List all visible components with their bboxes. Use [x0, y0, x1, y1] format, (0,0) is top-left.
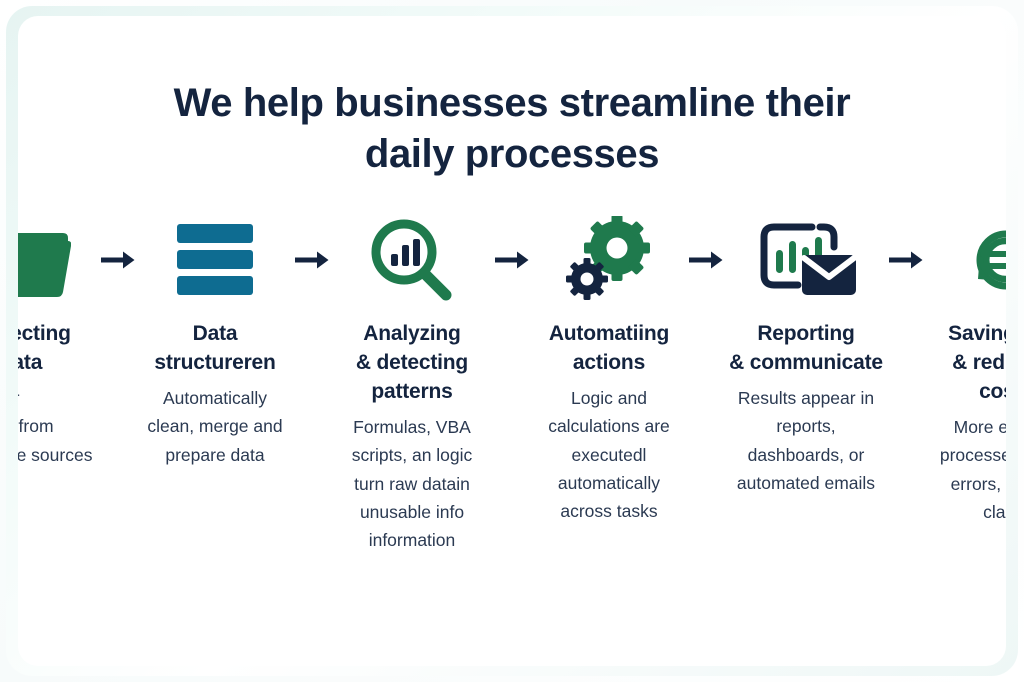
step-heading: Automatiing actions — [549, 320, 669, 378]
icon-slot — [729, 212, 883, 308]
arrow-right-icon — [101, 250, 135, 270]
page-title: We help businesses streamline their dail… — [18, 78, 1006, 180]
step-heading: Saving time & reducing costs — [948, 320, 1006, 407]
step-heading: Data structureren — [154, 320, 275, 378]
step-body: Logic and calculations are executedl aut… — [535, 384, 683, 526]
step-heading-line-3: costs — [979, 380, 1006, 403]
step-heading-line-1: Saving time — [948, 322, 1006, 345]
step-body: ✓ Gather courcefrom multiple sources — [18, 384, 100, 469]
flow-arrow-2 — [289, 212, 335, 308]
step-data-structureren: Data structureren Automatically clean, m… — [141, 212, 289, 469]
step-body: Formulas, VBA scripts, an logic turn raw… — [335, 413, 489, 555]
dashboard-envelope-icon — [754, 217, 858, 303]
page-title-line-1: We help businesses streamline their — [108, 78, 916, 129]
icon-slot — [18, 212, 95, 308]
slide-canvas: We help businesses streamline their dail… — [0, 0, 1024, 682]
icon-slot — [535, 212, 683, 308]
arrow-right-icon — [495, 250, 529, 270]
step-heading: Analyzing & detecting patterns — [356, 320, 468, 407]
step-heading-line-1: Analyzing — [363, 322, 460, 345]
step-heading-line-2: data — [18, 351, 42, 374]
step-heading: Collecting data — [18, 320, 71, 378]
icon-slot — [929, 212, 1006, 308]
step-heading-line-2: structureren — [154, 351, 275, 374]
step-collecting-data: Collecting data ✓ Gather courcefrom mult… — [18, 212, 95, 469]
step-heading: Reporting & communicate — [729, 320, 883, 378]
flow-arrow-4 — [683, 212, 729, 308]
step-heading-line-2: & detecting — [356, 351, 468, 374]
step-body: Automatically clean, merge and prepare d… — [141, 384, 289, 469]
gears-icon — [561, 216, 657, 304]
step-body-text: Gather courcefrom multiple sources — [18, 388, 92, 465]
step-analyzing-patterns: Analyzing & detecting patterns Formulas,… — [335, 212, 489, 555]
content-card: We help businesses streamline their dail… — [18, 16, 1006, 666]
step-heading-line-1: Collecting — [18, 322, 71, 345]
step-body: Results appear in reports, dashboards, o… — [729, 384, 883, 497]
flow-arrow-3 — [489, 212, 535, 308]
step-saving-time-costs: Saving time & reducing costs More effici… — [929, 212, 1006, 526]
step-heading-line-1: Reporting — [757, 322, 854, 345]
arrow-right-icon — [889, 250, 923, 270]
step-heading-line-1: Automatiing — [549, 322, 669, 345]
icon-slot — [335, 212, 489, 308]
process-flow: Collecting data ✓ Gather courcefrom mult… — [38, 212, 992, 555]
flow-arrow-1 — [95, 212, 141, 308]
data-rows-icon — [171, 220, 259, 300]
step-heading-line-2: & communicate — [729, 351, 883, 374]
page-title-line-2: daily processes — [108, 129, 916, 180]
step-heading-line-2: actions — [573, 351, 645, 374]
step-reporting-communicate: Reporting & communicate Results appear i… — [729, 212, 883, 497]
step-heading-line-3: patterns — [371, 380, 452, 403]
step-heading-line-2: & reducing — [952, 351, 1006, 374]
step-automating-actions: Automatiing actions Logic and calculatio… — [535, 212, 683, 526]
folder-icon — [18, 219, 71, 301]
step-heading-line-1: Data — [193, 322, 238, 345]
step-body: More efficient processes, fewer errors, … — [929, 413, 1006, 526]
flow-arrow-5 — [883, 212, 929, 308]
magnifier-chart-icon — [366, 216, 458, 304]
icon-slot — [141, 212, 289, 308]
euro-refresh-icon — [958, 216, 1006, 304]
arrow-right-icon — [689, 250, 723, 270]
arrow-right-icon — [295, 250, 329, 270]
